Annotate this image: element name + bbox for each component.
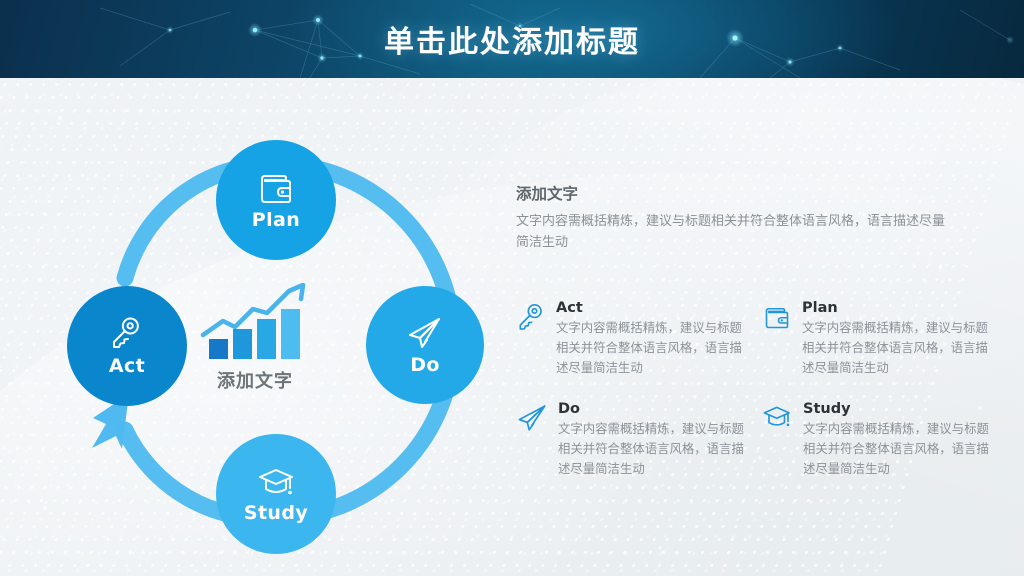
feature-item-study-icon-wrap — [762, 401, 793, 480]
feature-item-plan-title: Plan — [802, 300, 994, 316]
wallet-icon — [762, 302, 792, 332]
feature-item-plan-text: 文字内容需概括精炼，建议与标题相关并符合整体语言风格，语言描述尽量简洁生动 — [802, 318, 994, 379]
key-icon — [108, 315, 146, 353]
slide-header: 单击此处添加标题 — [0, 0, 1024, 78]
graduation-cap-icon — [762, 403, 793, 432]
cycle-node-act-label: Act — [109, 355, 145, 377]
feature-item-do-text: 文字内容需概括精炼，建议与标题相关并符合整体语言风格，语言描述尽量简洁生动 — [558, 419, 754, 480]
cycle-node-study[interactable]: Study — [216, 434, 336, 554]
cycle-node-study-label: Study — [244, 502, 308, 524]
feature-item-study-body: Study 文字内容需概括精炼，建议与标题相关并符合整体语言风格，语言描述尽量简… — [803, 401, 994, 480]
bar-chart-trend-icon — [197, 283, 313, 361]
panel-lead-body: 文字内容需概括精炼，建议与标题相关并符合整体语言风格，语言描述尽量简洁生动 — [516, 211, 946, 253]
wallet-icon — [256, 169, 296, 207]
feature-item-act[interactable]: Act 文字内容需概括精炼，建议与标题相关并符合整体语言风格，语言描述尽量简洁生… — [516, 300, 762, 379]
cycle-node-plan[interactable]: Plan — [216, 140, 336, 260]
feature-item-plan-icon-wrap — [762, 300, 792, 379]
feature-item-do-body: Do 文字内容需概括精炼，建议与标题相关并符合整体语言风格，语言描述尽量简洁生动 — [558, 401, 762, 480]
feature-grid: Act 文字内容需概括精炼，建议与标题相关并符合整体语言风格，语言描述尽量简洁生… — [516, 300, 994, 479]
feature-item-study-text: 文字内容需概括精炼，建议与标题相关并符合整体语言风格，语言描述尽量简洁生动 — [803, 419, 994, 480]
slide-canvas: 单击此处添加标题 Plan — [0, 0, 1024, 576]
feature-item-study[interactable]: Study 文字内容需概括精炼，建议与标题相关并符合整体语言风格，语言描述尽量简… — [762, 401, 994, 480]
feature-item-act-title: Act — [556, 300, 762, 316]
cycle-center-label: 添加文字 — [217, 367, 293, 393]
feature-item-do-title: Do — [558, 401, 762, 417]
cycle-node-do-label: Do — [410, 354, 440, 376]
cycle-node-do[interactable]: Do — [366, 286, 484, 404]
feature-item-act-icon-wrap — [516, 300, 546, 379]
paper-plane-icon — [516, 403, 548, 433]
content-panel: 添加文字 文字内容需概括精炼，建议与标题相关并符合整体语言风格，语言描述尽量简洁… — [516, 182, 994, 253]
key-icon — [516, 302, 546, 333]
page-title: 单击此处添加标题 — [0, 17, 1024, 61]
cycle-center-graphic: 添加文字 — [185, 283, 325, 413]
feature-item-act-body: Act 文字内容需概括精炼，建议与标题相关并符合整体语言风格，语言描述尽量简洁生… — [556, 300, 762, 379]
panel-lead-title: 添加文字 — [516, 182, 994, 204]
feature-item-act-text: 文字内容需概括精炼，建议与标题相关并符合整体语言风格，语言描述尽量简洁生动 — [556, 318, 752, 379]
paper-plane-icon — [405, 314, 445, 352]
graduation-cap-icon — [256, 464, 296, 500]
cycle-node-plan-label: Plan — [252, 209, 300, 231]
feature-item-study-title: Study — [803, 401, 994, 417]
feature-item-plan[interactable]: Plan 文字内容需概括精炼，建议与标题相关并符合整体语言风格，语言描述尽量简洁… — [762, 300, 994, 379]
feature-item-plan-body: Plan 文字内容需概括精炼，建议与标题相关并符合整体语言风格，语言描述尽量简洁… — [802, 300, 994, 379]
pdca-cycle-diagram: Plan Do Study — [30, 118, 470, 568]
feature-item-do-icon-wrap — [516, 401, 548, 480]
feature-item-do[interactable]: Do 文字内容需概括精炼，建议与标题相关并符合整体语言风格，语言描述尽量简洁生动 — [516, 401, 762, 480]
cycle-node-act[interactable]: Act — [67, 286, 187, 406]
